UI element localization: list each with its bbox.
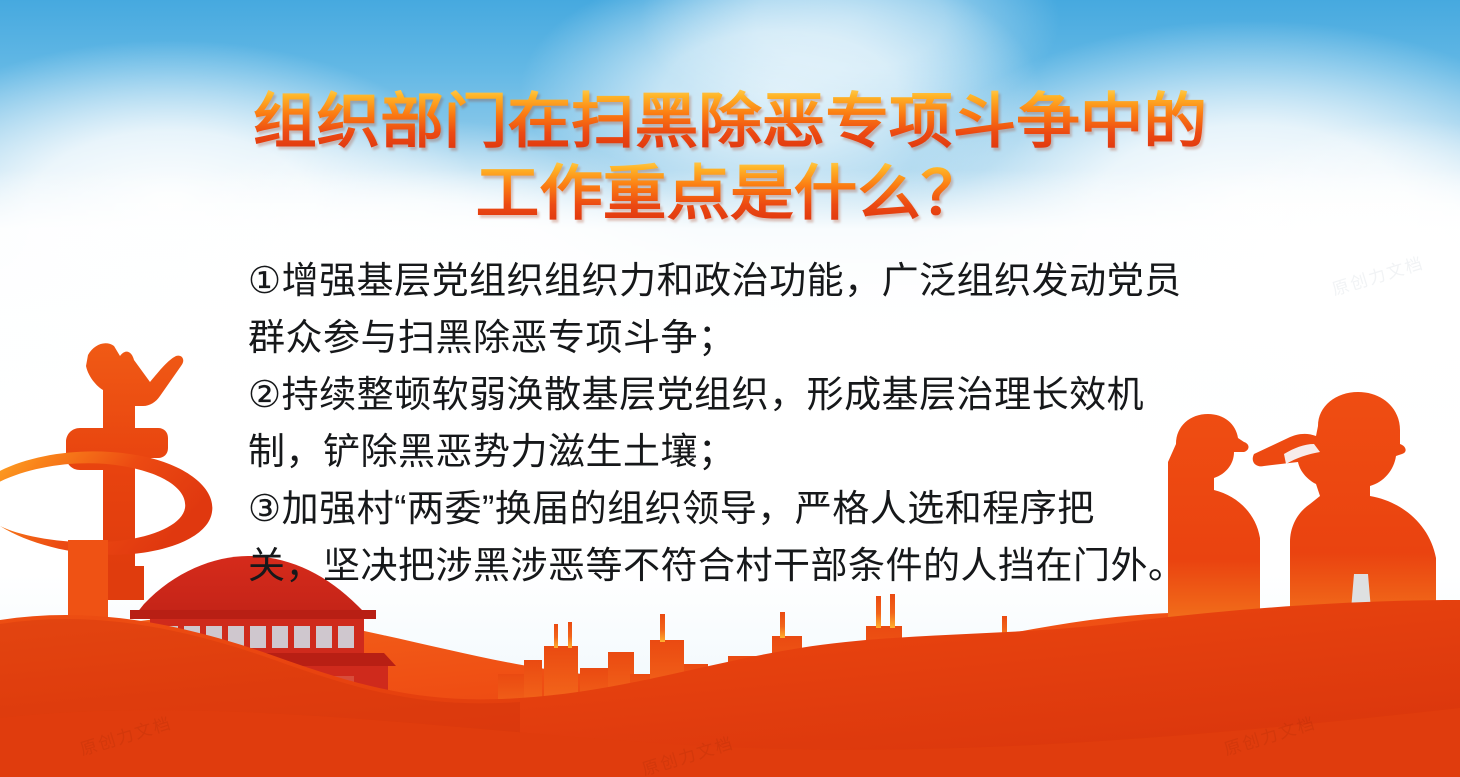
poster-title: 组织部门在扫黑除恶专项斗争中的 工作重点是什么？ (0, 84, 1460, 232)
title-line-2: 工作重点是什么？ (0, 156, 1460, 232)
body-line: ③加强村“两委”换届的组织领导，严格人选和程序把 (248, 480, 1238, 537)
body-line: 群众参与扫黑除恶专项斗争； (248, 309, 1238, 366)
body-line: 制，铲除黑恶势力滋生土壤； (248, 423, 1238, 480)
body-line: ②持续整顿软弱涣散基层党组织，形成基层治理长效机 (248, 366, 1238, 423)
body-line: ①增强基层党组织组织力和政治功能，广泛组织发动党员 (248, 252, 1238, 309)
poster-body-text: ①增强基层党组织组织力和政治功能，广泛组织发动党员 群众参与扫黑除恶专项斗争； … (248, 252, 1238, 594)
poster-canvas: 组织部门在扫黑除恶专项斗争中的 工作重点是什么？ ①增强基层党组织组织力和政治功… (0, 0, 1460, 777)
body-line: 关，坚决把涉黑涉恶等不符合村干部条件的人挡在门外。 (248, 537, 1238, 594)
title-line-1: 组织部门在扫黑除恶专项斗争中的 (0, 84, 1460, 160)
